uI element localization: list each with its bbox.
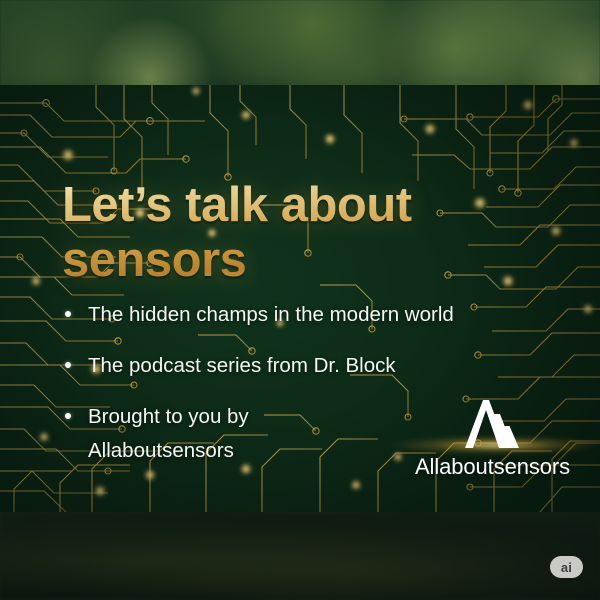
bullet-dot-icon [65,311,71,317]
brand-block: Allaboutsensors [405,396,580,480]
presentation-slide: Let’s talk about sensors The hidden cham… [0,0,600,600]
bullet-dot-icon [65,413,71,419]
list-item: The podcast series from Dr. Block [60,349,510,382]
page-title: Let’s talk about sensors [62,178,502,288]
bokeh-background-bottom [0,512,600,600]
list-item-label: The hidden champs in the modern world [88,303,454,326]
bullet-dot-icon [65,362,71,368]
list-item-label: The podcast series from Dr. Block [88,354,396,377]
list-item: The hidden champs in the modern world [60,298,510,331]
allaboutsensors-a-logo-icon [461,396,525,452]
ai-badge: ai [550,556,583,578]
brand-name: Allaboutsensors [405,454,580,480]
list-item-label: Brought to you by [88,405,249,428]
